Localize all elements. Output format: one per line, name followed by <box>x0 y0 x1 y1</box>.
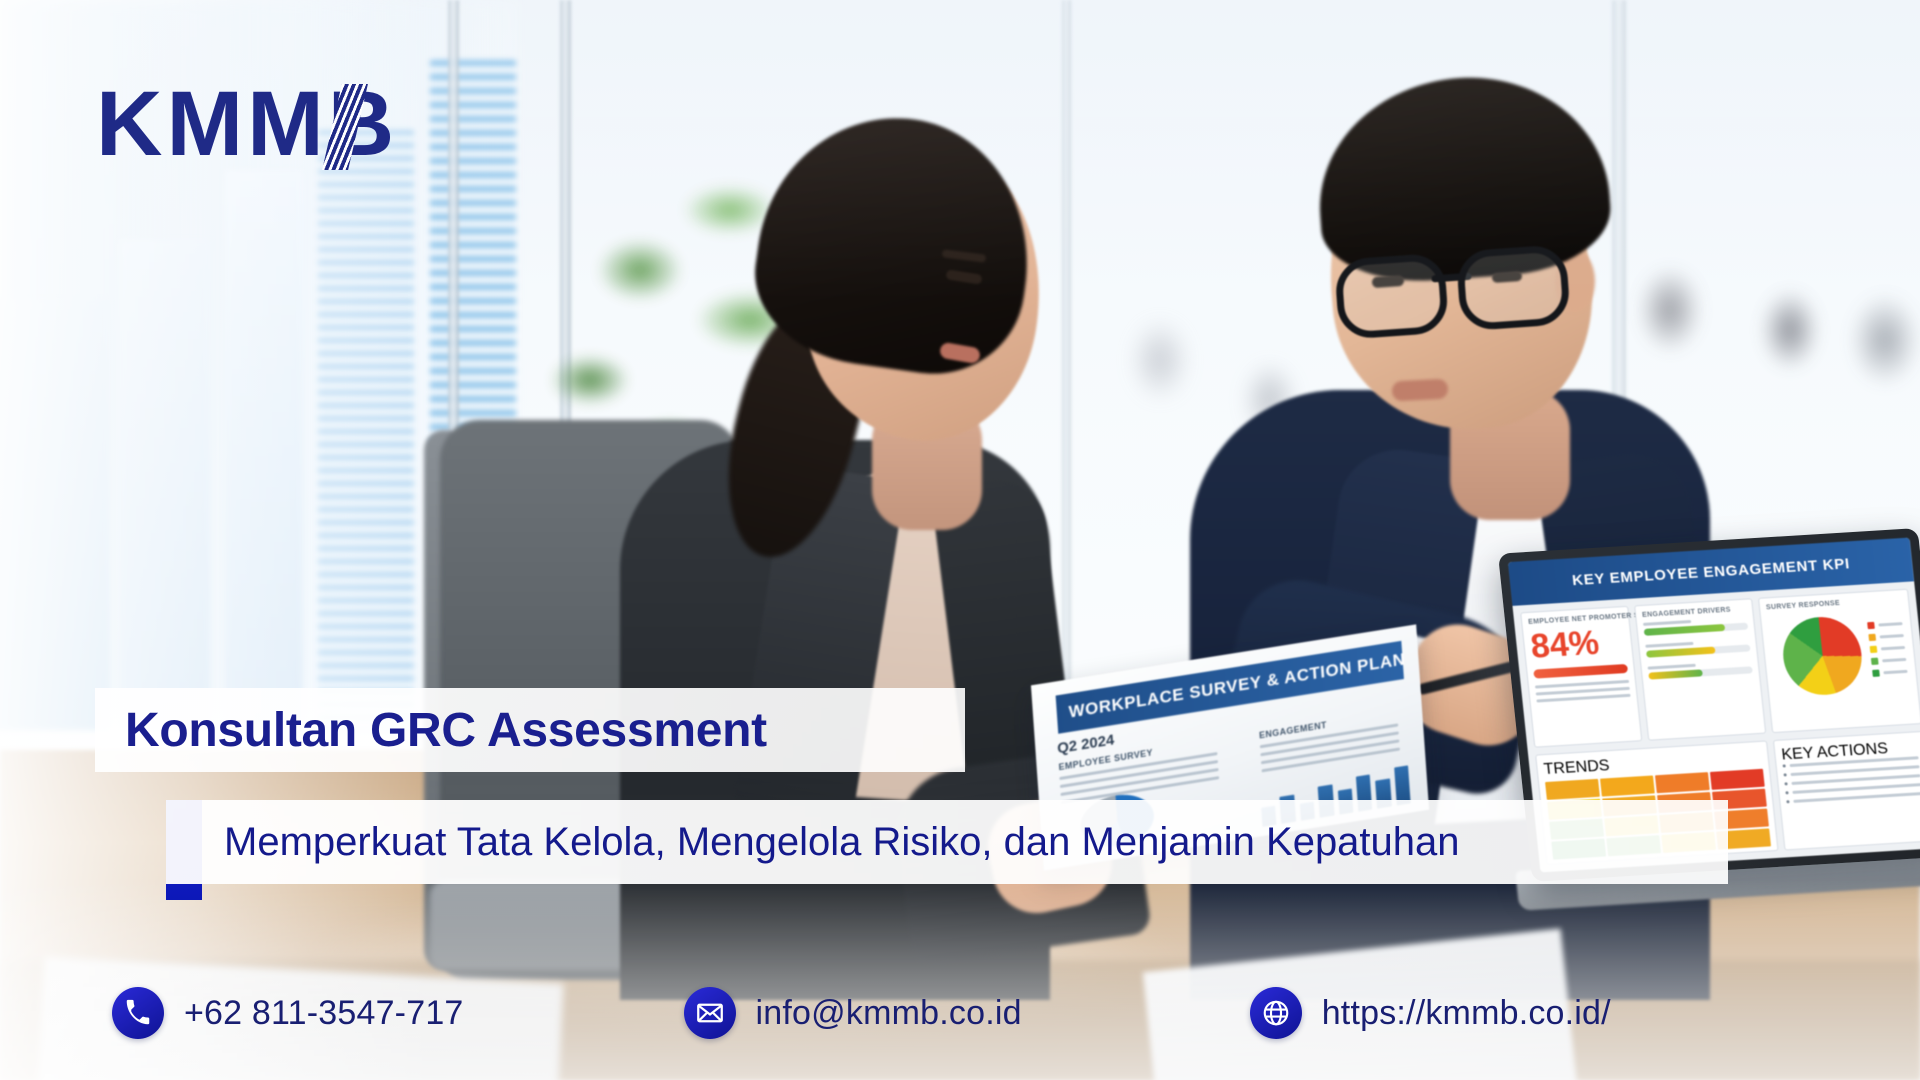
legend-item <box>1872 668 1908 677</box>
skyscraper <box>318 130 414 730</box>
email-icon <box>684 987 736 1039</box>
legend-item <box>1871 656 1907 665</box>
skyscraper <box>0 300 110 730</box>
kpi-mini-lines <box>1535 680 1631 703</box>
legend-item <box>1870 644 1906 653</box>
kpi-card-label: SURVEY RESPONSE <box>1766 596 1903 611</box>
eyeglass-lens <box>1334 252 1449 339</box>
kpi-card-actions: KEY ACTIONS <box>1773 731 1920 851</box>
phone-icon <box>112 987 164 1039</box>
dashboard-top-row: EMPLOYEE NET PROMOTER SCORE 84% ENGAGEME… <box>1512 581 1920 755</box>
eyeglass-lens <box>1456 244 1571 331</box>
driver-bar-row <box>1643 617 1748 636</box>
legend-item <box>1867 620 1903 629</box>
contact-bar: +62 811-3547-717 info@kmmb.co.id htt <box>0 968 1920 1058</box>
kpi-card-drivers: ENGAGEMENT DRIVERS <box>1634 598 1766 740</box>
heatmap-cell <box>1600 775 1655 796</box>
window-mullion <box>1062 0 1071 760</box>
page-title: Konsultan GRC Assessment <box>95 703 767 758</box>
kpi-metric-value: 84% <box>1529 624 1626 664</box>
heatmap-cell <box>1710 769 1765 790</box>
page-subtitle: Memperkuat Tata Kelola, Mengelola Risiko… <box>166 820 1460 865</box>
globe-icon <box>1250 987 1302 1039</box>
heatmap-cell <box>1655 772 1710 793</box>
driver-bar-row <box>1648 660 1753 679</box>
man-lips <box>1392 379 1449 402</box>
contact-website[interactable]: https://kmmb.co.id/ <box>1250 987 1611 1039</box>
kpi-metric-bar <box>1533 664 1628 679</box>
action-item <box>1786 792 1920 803</box>
headline-band: Konsultan GRC Assessment <box>95 688 965 772</box>
phone-number: +62 811-3547-717 <box>184 994 464 1033</box>
driver-bars <box>1643 617 1753 680</box>
contact-email[interactable]: info@kmmb.co.id <box>684 987 1022 1039</box>
kmmb-logo: KMMB <box>96 78 398 170</box>
website-url: https://kmmb.co.id/ <box>1322 994 1611 1033</box>
heatmap-cell <box>1545 779 1600 800</box>
legend-item <box>1868 632 1904 641</box>
report-quarter: Q2 2024 <box>1057 731 1115 757</box>
driver-bar-row <box>1645 638 1750 657</box>
skyscraper <box>120 240 210 730</box>
kpi-card-nps: EMPLOYEE NET PROMOTER SCORE 84% <box>1520 606 1642 748</box>
action-items <box>1783 756 1920 803</box>
contact-phone[interactable]: +62 811-3547-717 <box>112 987 464 1039</box>
kpi-card-response: SURVEY RESPONSE <box>1758 589 1920 733</box>
marketing-banner: WORKPLACE SURVEY & ACTION PLAN Q2 2024 E… <box>0 0 1920 1080</box>
email-address: info@kmmb.co.id <box>756 994 1022 1033</box>
subtitle-band: Memperkuat Tata Kelola, Mengelola Risiko… <box>166 800 1728 884</box>
response-pie-chart <box>1779 615 1865 697</box>
pie-legend <box>1867 620 1908 682</box>
skyscraper <box>225 170 303 730</box>
